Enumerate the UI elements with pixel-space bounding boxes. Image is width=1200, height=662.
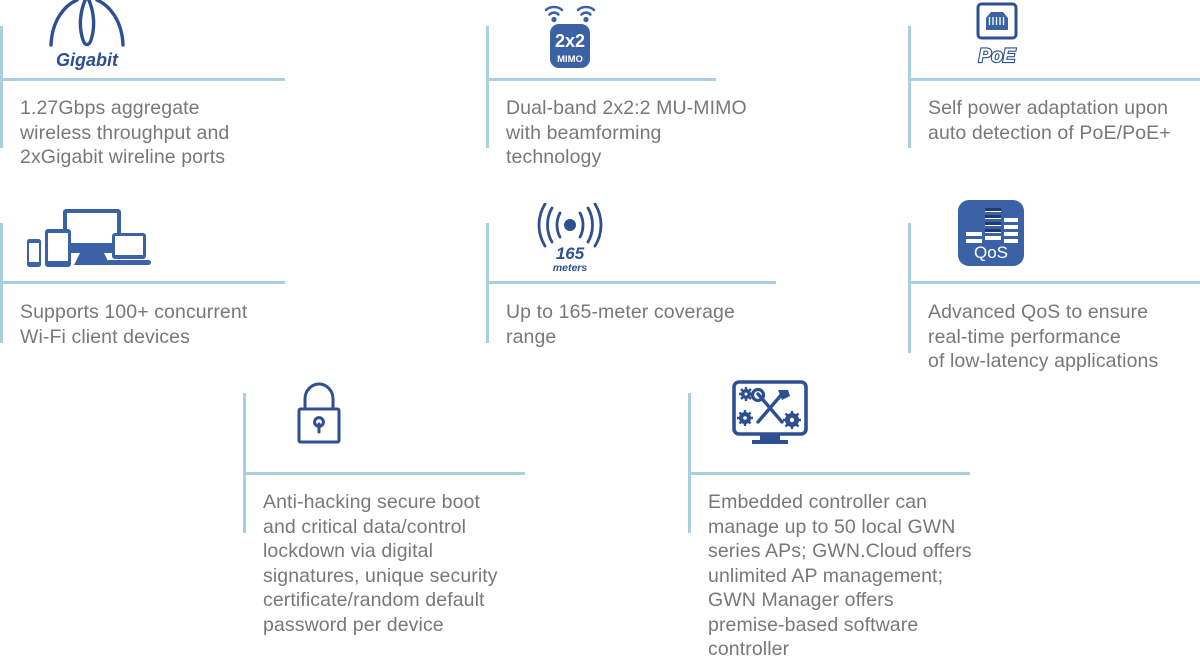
feature-cell-qos: QoS Advanced QoS to ensure real-time per… bbox=[908, 223, 1200, 393]
poe-rj45-port-icon: PoE bbox=[966, 2, 1028, 70]
feature-description-poe: Self power adaptation upon auto detectio… bbox=[928, 96, 1200, 145]
feature-description-controller: Embedded controller can manage up to 50 … bbox=[708, 490, 1000, 662]
feature-cell-coverage: 165 meters Up to 165-meter coverage rang… bbox=[486, 223, 786, 383]
qos-icon-label: QoS bbox=[974, 243, 1008, 262]
feature-cell-controller: Embedded controller can manage up to 50 … bbox=[688, 393, 988, 638]
mimo-icon-label-secondary: MIMO bbox=[557, 54, 583, 65]
feature-cell-clients: Supports 100+ concurrent Wi-Fi client de… bbox=[0, 223, 300, 383]
feature-cell-throughput: Gigabit 1.27Gbps aggregate wireless thro… bbox=[0, 26, 300, 186]
feature-description-clients: Supports 100+ concurrent Wi-Fi client de… bbox=[20, 300, 305, 349]
feature-description-throughput: 1.27Gbps aggregate wireless throughput a… bbox=[20, 96, 295, 170]
feature-description-mimo: Dual-band 2x2:2 MU-MIMO with beamforming… bbox=[506, 96, 796, 170]
coverage-icon-label-secondary: meters bbox=[553, 262, 588, 273]
2x2-mimo-wifi-icon: 2x2 MIMO bbox=[538, 2, 602, 72]
feature-description-qos: Advanced QoS to ensure real-time perform… bbox=[928, 300, 1200, 374]
feature-cell-poe: PoE Self power adaptation upon auto dete… bbox=[908, 26, 1200, 186]
monitor-tools-gears-icon bbox=[730, 380, 810, 448]
padlock-icon bbox=[291, 382, 347, 448]
feature-cell-mimo: 2x2 MIMO Dual-band 2x2:2 MU-MIMO with be… bbox=[486, 26, 786, 186]
cell-horizontal-rule bbox=[243, 472, 525, 475]
cell-vertical-rule bbox=[243, 393, 246, 533]
multi-device-clients-icon bbox=[24, 209, 152, 271]
cell-horizontal-rule bbox=[688, 472, 970, 475]
cell-vertical-rule bbox=[0, 26, 3, 148]
cell-vertical-rule bbox=[688, 393, 691, 533]
cell-vertical-rule bbox=[908, 26, 911, 148]
qos-equalizer-icon: QoS bbox=[954, 196, 1028, 270]
poe-icon-label: PoE bbox=[979, 46, 1017, 67]
cell-vertical-rule bbox=[486, 26, 489, 148]
cell-horizontal-rule bbox=[908, 281, 1200, 284]
feature-grid: Gigabit 1.27Gbps aggregate wireless thro… bbox=[0, 0, 1200, 638]
coverage-icon-label-primary: 165 bbox=[556, 244, 585, 263]
cell-horizontal-rule bbox=[0, 78, 285, 81]
cell-horizontal-rule bbox=[908, 78, 1200, 81]
feature-description-security: Anti-hacking secure boot and critical da… bbox=[263, 490, 548, 637]
signal-range-icon: 165 meters bbox=[536, 203, 604, 273]
cell-vertical-rule bbox=[908, 223, 911, 353]
gigabit-antenna-icon: Gigabit bbox=[45, 0, 129, 74]
gigabit-icon-label: Gigabit bbox=[56, 50, 119, 70]
feature-cell-security: Anti-hacking secure boot and critical da… bbox=[243, 393, 543, 638]
cell-horizontal-rule bbox=[0, 281, 285, 284]
cell-horizontal-rule bbox=[486, 281, 776, 284]
cell-horizontal-rule bbox=[486, 78, 716, 81]
mimo-icon-label-primary: 2x2 bbox=[555, 31, 585, 51]
feature-description-coverage: Up to 165-meter coverage range bbox=[506, 300, 796, 349]
